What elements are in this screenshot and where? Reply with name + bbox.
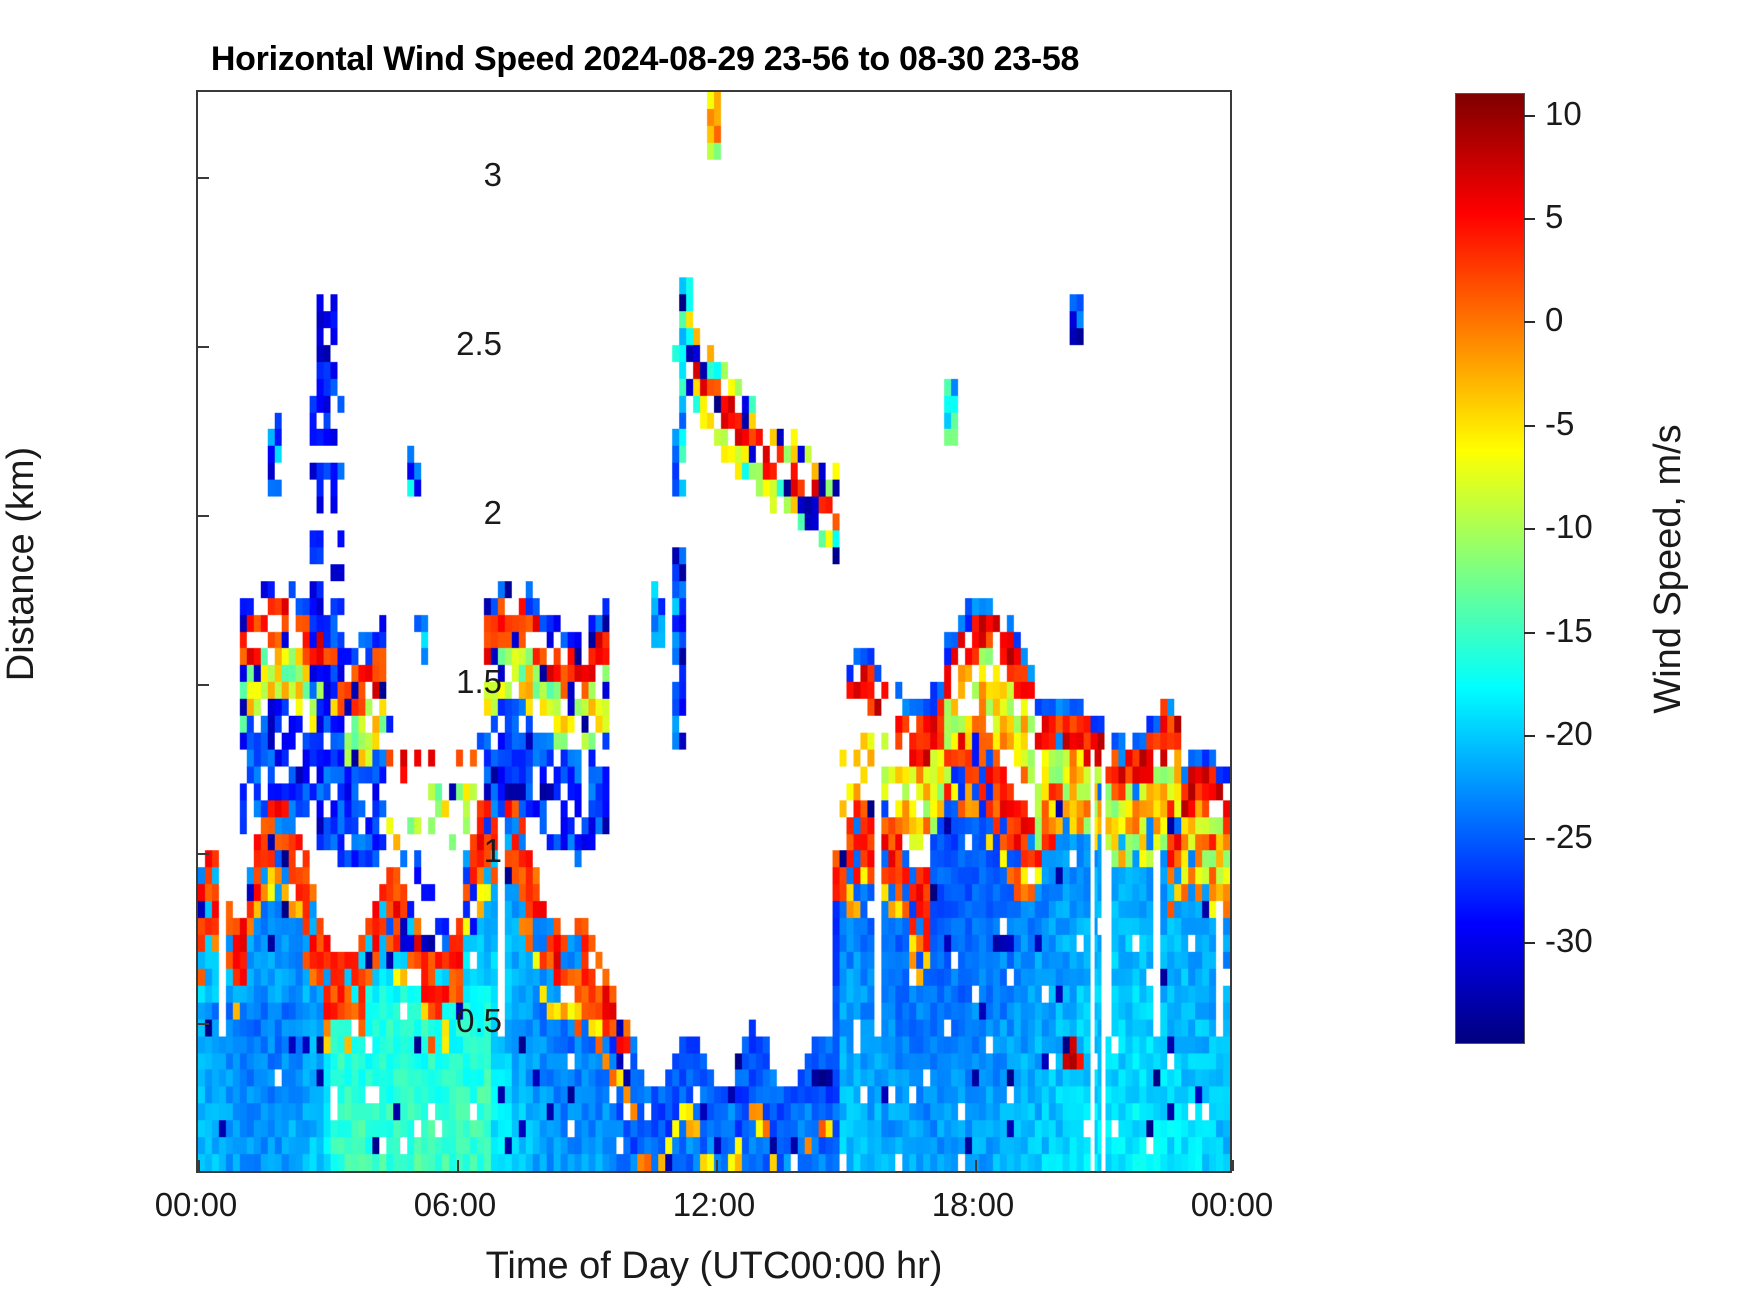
colorbar-tick-mark: [1524, 942, 1535, 944]
chart-title: Horizontal Wind Speed 2024-08-29 23-56 t…: [0, 40, 1290, 79]
x-tick-label: 06:00: [414, 1186, 497, 1224]
x-tick-label: 18:00: [932, 1186, 1015, 1224]
y-tick-mark: [198, 684, 209, 686]
x-tick-mark: [716, 1160, 718, 1171]
y-tick-mark: [198, 1023, 209, 1025]
colorbar-tick-mark: [1524, 218, 1535, 220]
y-tick-label: 0.5: [456, 1002, 502, 1040]
x-tick-label: 12:00: [673, 1186, 756, 1224]
colorbar-tick-mark: [1524, 528, 1535, 530]
x-tick-mark: [457, 1160, 459, 1171]
colorbar-tick-label: -30: [1545, 922, 1593, 960]
y-tick-mark: [198, 515, 209, 517]
x-tick-mark: [975, 1160, 977, 1171]
colorbar-tick-label: -15: [1545, 612, 1593, 650]
plot-axes: [196, 90, 1232, 1173]
colorbar-tick-label: -5: [1545, 405, 1574, 443]
colorbar-tick-mark: [1524, 115, 1535, 117]
x-axis-label: Time of Day (UTC00:00 hr): [196, 1245, 1232, 1288]
colorbar: [1455, 93, 1525, 1044]
colorbar-tick-mark: [1524, 838, 1535, 840]
figure-root: Horizontal Wind Speed 2024-08-29 23-56 t…: [0, 0, 1750, 1313]
colorbar-gradient: [1456, 94, 1524, 1043]
colorbar-label: Wind Speed, m/s: [1647, 424, 1690, 713]
colorbar-tick-mark: [1524, 735, 1535, 737]
colorbar-tick-label: 0: [1545, 301, 1563, 339]
colorbar-tick-mark: [1524, 425, 1535, 427]
colorbar-tick-mark: [1524, 632, 1535, 634]
colorbar-tick-label: -20: [1545, 715, 1593, 753]
colorbar-tick-label: 10: [1545, 95, 1582, 133]
colorbar-tick-label: 5: [1545, 198, 1563, 236]
y-tick-label: 2: [484, 494, 502, 532]
y-tick-mark: [198, 177, 209, 179]
x-tick-mark: [1232, 1160, 1234, 1171]
heatmap-canvas: [198, 92, 1230, 1171]
x-tick-mark: [198, 1160, 200, 1171]
y-tick-label: 1: [484, 832, 502, 870]
y-axis-label: Distance (km): [0, 447, 43, 681]
y-tick-label: 2.5: [456, 325, 502, 363]
y-tick-mark: [198, 346, 209, 348]
y-tick-label: 3: [484, 156, 502, 194]
x-tick-label: 00:00: [155, 1186, 238, 1224]
colorbar-tick-label: -10: [1545, 508, 1593, 546]
y-tick-label: 1.5: [456, 663, 502, 701]
colorbar-tick-label: -25: [1545, 818, 1593, 856]
colorbar-tick-mark: [1524, 321, 1535, 323]
x-tick-label: 00:00: [1191, 1186, 1274, 1224]
y-tick-mark: [198, 853, 209, 855]
